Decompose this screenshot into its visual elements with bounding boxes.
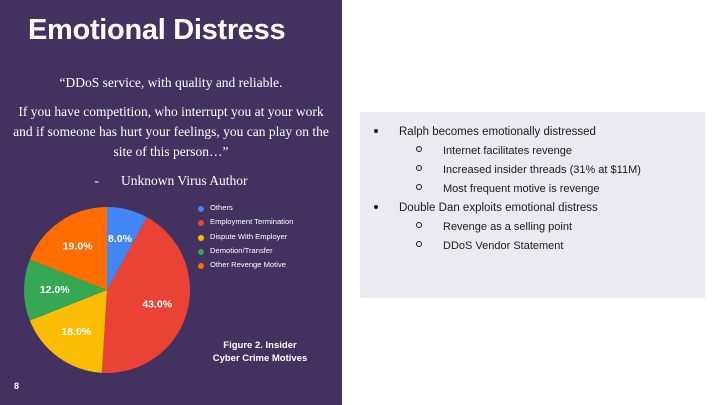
legend-item-label: Others: [210, 203, 233, 213]
attribution-name: Unknown Virus Author: [121, 173, 247, 188]
legend-swatch-icon: [198, 249, 204, 255]
pie-chart-legend: OthersEmployment TerminationDispute With…: [198, 203, 338, 274]
page-title: Emotional Distress: [28, 14, 328, 47]
pie-slice-label: 43.0%: [142, 298, 172, 310]
sub-bullet-item: Most frequent motive is revenge: [416, 183, 704, 195]
bullet-text: Increased insider threads (31% at $11M): [443, 164, 641, 176]
sub-bullet-item: Revenge as a selling point: [416, 221, 704, 233]
bullet-marker-icon: [374, 205, 378, 209]
pie-slice-label: 19.0%: [63, 241, 93, 253]
legend-item: Other Revenge Motive: [198, 260, 338, 270]
bullet-marker-icon: [374, 129, 378, 133]
legend-swatch-icon: [198, 220, 204, 226]
legend-item: Employment Termination: [198, 217, 338, 227]
figure-caption: Figure 2. Insider Cyber Crime Motives: [186, 340, 334, 366]
legend-item-label: Dispute With Employer: [210, 232, 287, 242]
left-panel: Emotional Distress “DDoS service, with q…: [0, 0, 342, 405]
legend-item: Demotion/Transfer: [198, 246, 338, 256]
sub-bullet-item: Internet facilitates revenge: [416, 145, 704, 157]
figure-caption-line2: Cyber Crime Motives: [213, 353, 308, 364]
legend-swatch-icon: [198, 206, 204, 212]
quote-attribution: -Unknown Virus Author: [12, 173, 330, 189]
sub-bullet-marker-icon: [416, 184, 422, 190]
legend-swatch-icon: [198, 235, 204, 241]
pie-slice-label: 18.0%: [61, 326, 91, 338]
bullet-text: Most frequent motive is revenge: [443, 183, 600, 195]
pie-slice-label: 8.0%: [108, 233, 133, 245]
legend-item-label: Demotion/Transfer: [210, 246, 273, 256]
bullet-item: Double Dan exploits emotional distress: [374, 202, 704, 214]
quote-block: “DDoS service, with quality and reliable…: [12, 73, 330, 162]
pie-chart-svg: 8.0%43.0%18.0%12.0%19.0%: [24, 207, 190, 373]
bullet-text: Revenge as a selling point: [443, 221, 572, 233]
legend-item-label: Other Revenge Motive: [210, 260, 286, 270]
figure-caption-line1: Figure 2. Insider: [223, 340, 296, 351]
pie-slice-label: 12.0%: [40, 284, 70, 296]
legend-item: Dispute With Employer: [198, 232, 338, 242]
content-box: Ralph becomes emotionally distressedInte…: [360, 112, 705, 298]
pie-chart: 8.0%43.0%18.0%12.0%19.0%: [24, 207, 190, 373]
bullet-item: Ralph becomes emotionally distressed: [374, 126, 704, 138]
bullet-text: DDoS Vendor Statement: [443, 240, 563, 252]
quote-line-1: “DDoS service, with quality and reliable…: [12, 73, 330, 93]
sub-bullet-item: Increased insider threads (31% at $11M): [416, 164, 704, 176]
sub-bullet-marker-icon: [416, 146, 422, 152]
bullet-list: Ralph becomes emotionally distressedInte…: [374, 126, 704, 259]
page-number: 8: [14, 381, 19, 391]
bullet-text: Ralph becomes emotionally distressed: [399, 126, 596, 138]
bullet-text: Internet facilitates revenge: [443, 145, 572, 157]
attribution-dash: -: [95, 173, 100, 189]
sub-bullet-marker-icon: [416, 222, 422, 228]
bullet-text: Double Dan exploits emotional distress: [399, 202, 598, 214]
sub-bullet-marker-icon: [416, 165, 422, 171]
quote-line-2: If you have competition, who interrupt y…: [12, 102, 330, 162]
sub-bullet-marker-icon: [416, 241, 422, 247]
legend-item: Others: [198, 203, 338, 213]
legend-item-label: Employment Termination: [210, 217, 293, 227]
legend-swatch-icon: [198, 263, 204, 269]
sub-bullet-item: DDoS Vendor Statement: [416, 240, 704, 252]
